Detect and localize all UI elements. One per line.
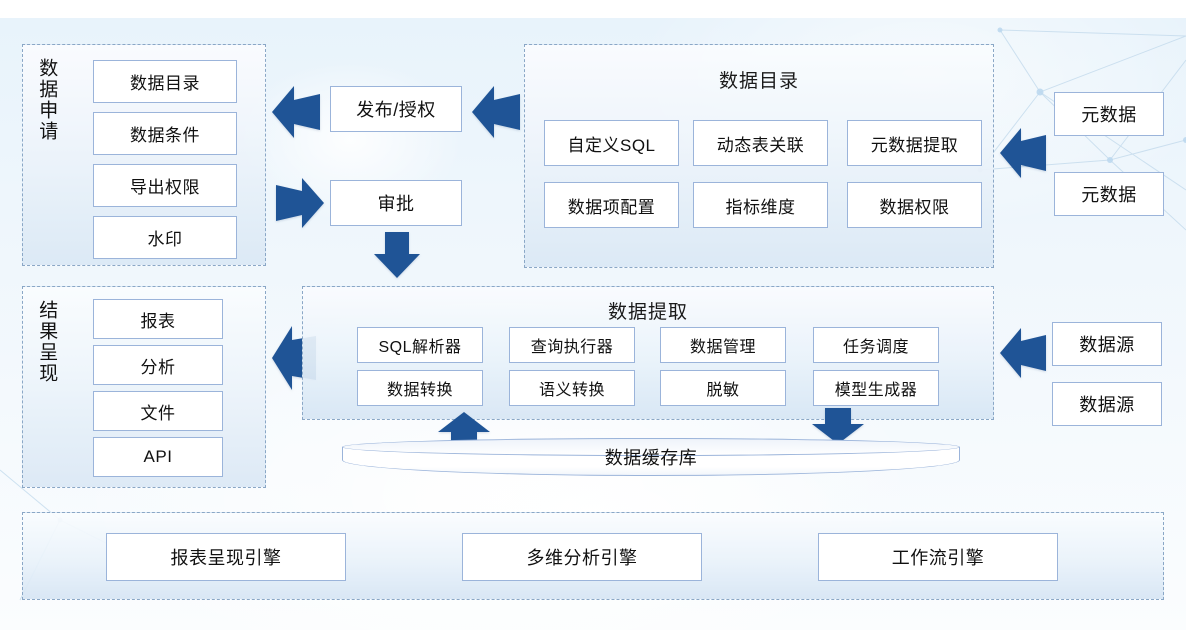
box-desensitization[interactable]: 脱敏 bbox=[660, 370, 786, 406]
box-task-scheduling[interactable]: 任务调度 bbox=[813, 327, 939, 363]
panel-data-catalog-title: 数据目录 bbox=[524, 66, 994, 93]
architecture-diagram: 数据申请 数据目录 数据条件 导出权限 水印 发布/授权 审批 数据目录 自定义… bbox=[0, 0, 1186, 630]
box-query-executor[interactable]: 查询执行器 bbox=[509, 327, 635, 363]
box-analysis[interactable]: 分析 bbox=[93, 345, 223, 385]
box-metric-dimension[interactable]: 指标维度 bbox=[693, 182, 828, 228]
box-data-item-config[interactable]: 数据项配置 bbox=[544, 182, 679, 228]
cylinder-label: 数据缓存库 bbox=[342, 438, 960, 476]
box-data-condition[interactable]: 数据条件 bbox=[93, 112, 237, 155]
box-olap-engine[interactable]: 多维分析引擎 bbox=[462, 533, 702, 581]
box-model-generator[interactable]: 模型生成器 bbox=[813, 370, 939, 406]
box-data-catalog-request[interactable]: 数据目录 bbox=[93, 60, 237, 103]
box-dynamic-table-join[interactable]: 动态表关联 bbox=[693, 120, 828, 166]
box-sql-parser[interactable]: SQL解析器 bbox=[357, 327, 483, 363]
box-custom-sql[interactable]: 自定义SQL bbox=[544, 120, 679, 166]
box-api[interactable]: API bbox=[93, 437, 223, 477]
box-publish-authorize[interactable]: 发布/授权 bbox=[330, 86, 462, 132]
box-watermark[interactable]: 水印 bbox=[93, 216, 237, 259]
box-semantic-transform[interactable]: 语义转换 bbox=[509, 370, 635, 406]
box-data-permission[interactable]: 数据权限 bbox=[847, 182, 982, 228]
cylinder-data-cache[interactable]: 数据缓存库 bbox=[342, 438, 960, 476]
box-file[interactable]: 文件 bbox=[93, 391, 223, 431]
box-metadata-extract[interactable]: 元数据提取 bbox=[847, 120, 982, 166]
box-report-engine[interactable]: 报表呈现引擎 bbox=[106, 533, 346, 581]
panel-data-extraction-title: 数据提取 bbox=[302, 297, 994, 324]
box-workflow-engine[interactable]: 工作流引擎 bbox=[818, 533, 1058, 581]
box-metadata-1[interactable]: 元数据 bbox=[1054, 92, 1164, 136]
box-data-transform[interactable]: 数据转换 bbox=[357, 370, 483, 406]
box-datasource-1[interactable]: 数据源 bbox=[1052, 322, 1162, 366]
box-datasource-2[interactable]: 数据源 bbox=[1052, 382, 1162, 426]
box-metadata-2[interactable]: 元数据 bbox=[1054, 172, 1164, 216]
panel-data-application-label: 数据申请 bbox=[36, 58, 57, 248]
box-data-management[interactable]: 数据管理 bbox=[660, 327, 786, 363]
box-report[interactable]: 报表 bbox=[93, 299, 223, 339]
box-approval[interactable]: 审批 bbox=[330, 180, 462, 226]
panel-result-presentation-label: 结果呈现 bbox=[36, 300, 57, 475]
box-export-permission[interactable]: 导出权限 bbox=[93, 164, 237, 207]
